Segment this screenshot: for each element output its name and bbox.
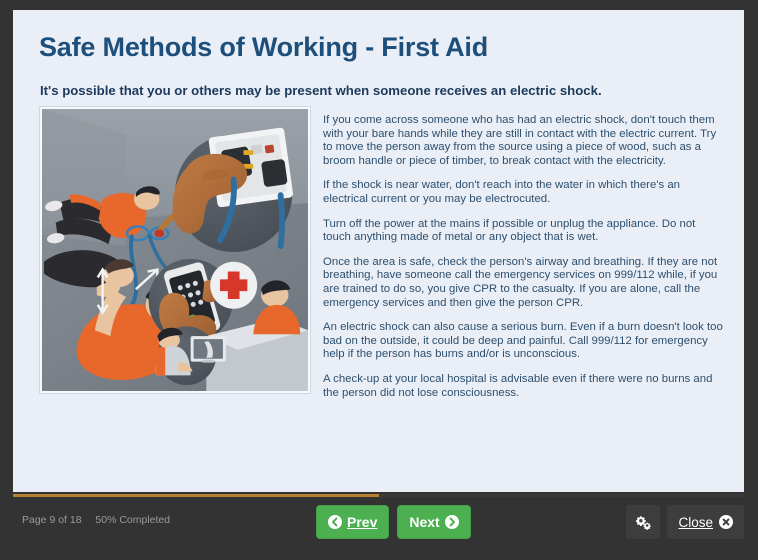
chevron-left-circle-icon [328, 515, 342, 529]
body-text-column: If you come across someone who has had a… [323, 114, 723, 411]
progress-status: Page 9 of 18 50% Completed [22, 514, 170, 526]
slide-content-panel: Safe Methods of Working - First Aid It's… [13, 10, 744, 492]
gears-icon [634, 514, 652, 530]
electric-shock-first-aid-illustration [42, 109, 308, 391]
close-button-label: Close [678, 515, 713, 530]
close-button[interactable]: Close [667, 505, 744, 539]
body-paragraph-2: If the shock is near water, don't reach … [323, 179, 723, 206]
scene-red-cross-symbol [210, 262, 257, 309]
next-button-label: Next [409, 514, 439, 530]
navigation-buttons: Prev Next [316, 505, 471, 539]
illustration-frame [39, 106, 311, 394]
illustration-graphic [42, 109, 308, 391]
close-circle-icon [719, 515, 733, 529]
chevron-right-circle-icon [445, 515, 459, 529]
body-paragraph-1: If you come across someone who has had a… [323, 114, 723, 168]
page-subtitle: It's possible that you or others may be … [40, 83, 602, 98]
page-status-label: Page 9 of 18 [22, 514, 82, 526]
completion-status-label: 50% Completed [95, 514, 170, 526]
body-paragraph-5: An electric shock can also cause a serio… [323, 321, 723, 362]
prev-button-label: Prev [347, 514, 377, 530]
footer-right-buttons: Close [626, 505, 744, 539]
body-paragraph-4: Once the area is safe, check the person'… [323, 256, 723, 310]
player-footer: Page 9 of 18 50% Completed Prev Next [0, 497, 758, 560]
settings-button[interactable] [626, 505, 660, 539]
page-title: Safe Methods of Working - First Aid [39, 32, 488, 63]
next-button[interactable]: Next [397, 505, 470, 539]
course-player: Safe Methods of Working - First Aid It's… [0, 0, 758, 560]
body-paragraph-6: A check-up at your local hospital is adv… [323, 373, 723, 400]
body-paragraph-3: Turn off the power at the mains if possi… [323, 218, 723, 245]
prev-button[interactable]: Prev [316, 505, 389, 539]
